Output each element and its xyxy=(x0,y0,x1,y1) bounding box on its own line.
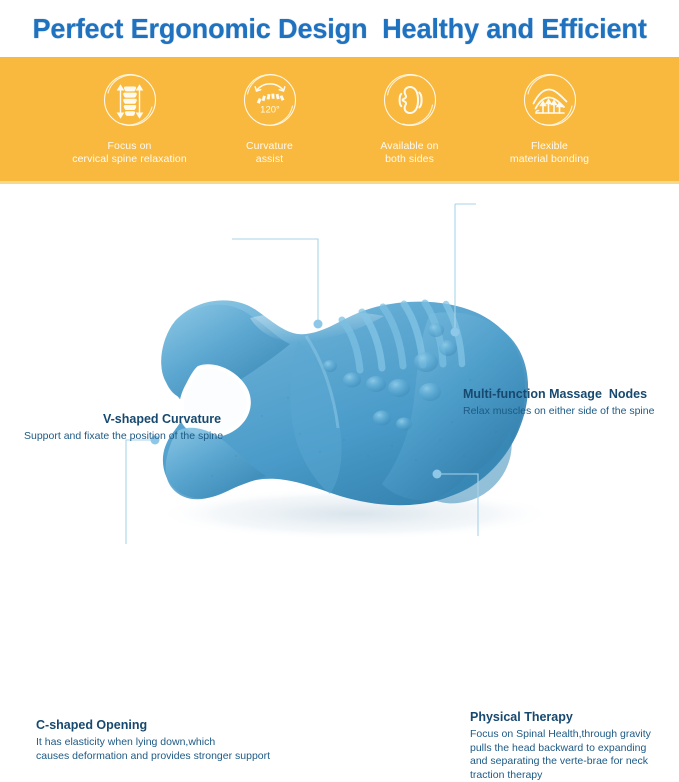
callout-body: Focus on Spinal Health,through gravity p… xyxy=(470,728,651,782)
callout-c-shaped-opening: C-shaped Opening It has elasticity when … xyxy=(36,718,270,763)
pillow-profile-icon xyxy=(379,69,441,131)
feature-item-both-sides: Available on both sides xyxy=(347,69,472,166)
feature-label: Available on both sides xyxy=(380,140,438,166)
product-stage: V-shaped Curvature Support and fixate th… xyxy=(0,184,679,600)
callout-body: Relax muscles on either side of the spin… xyxy=(463,405,654,419)
feature-item-curvature: 120° Curvature assist xyxy=(207,69,332,166)
callout-title: V-shaped Curvature xyxy=(24,412,223,427)
callout-body: It has elasticity when lying down,which … xyxy=(36,736,270,763)
feature-item-flexible: Flexible material bonding xyxy=(487,69,612,166)
page-title: Perfect Ergonomic Design Healthy and Eff… xyxy=(32,15,646,43)
callout-title: Physical Therapy xyxy=(470,710,651,725)
callout-v-shaped-curvature: V-shaped Curvature Support and fixate th… xyxy=(24,412,223,444)
flexible-arch-arrows-icon xyxy=(519,69,581,131)
feature-list: Focus on cervical spine relaxation xyxy=(67,69,612,166)
feature-label: Curvature assist xyxy=(246,140,293,166)
callout-physical-therapy: Physical Therapy Focus on Spinal Health,… xyxy=(470,710,651,782)
feature-banner: Focus on cervical spine relaxation xyxy=(0,57,679,181)
leader-dots xyxy=(151,320,460,479)
feature-item-spine: Focus on cervical spine relaxation xyxy=(67,69,192,166)
curvature-degree-value: 120° xyxy=(260,105,280,116)
callout-title: C-shaped Opening xyxy=(36,718,270,733)
curvature-gauge-icon: 120° xyxy=(239,69,301,131)
page-header: Perfect Ergonomic Design Healthy and Eff… xyxy=(0,0,679,57)
callout-body: Support and fixate the position of the s… xyxy=(24,430,223,444)
callout-title: Multi-function Massage Nodes xyxy=(463,387,654,402)
feature-label: Focus on cervical spine relaxation xyxy=(72,140,187,166)
spine-stretch-icon xyxy=(99,69,161,131)
callout-massage-nodes: Multi-function Massage Nodes Relax muscl… xyxy=(463,387,654,419)
feature-label: Flexible material bonding xyxy=(510,140,589,166)
